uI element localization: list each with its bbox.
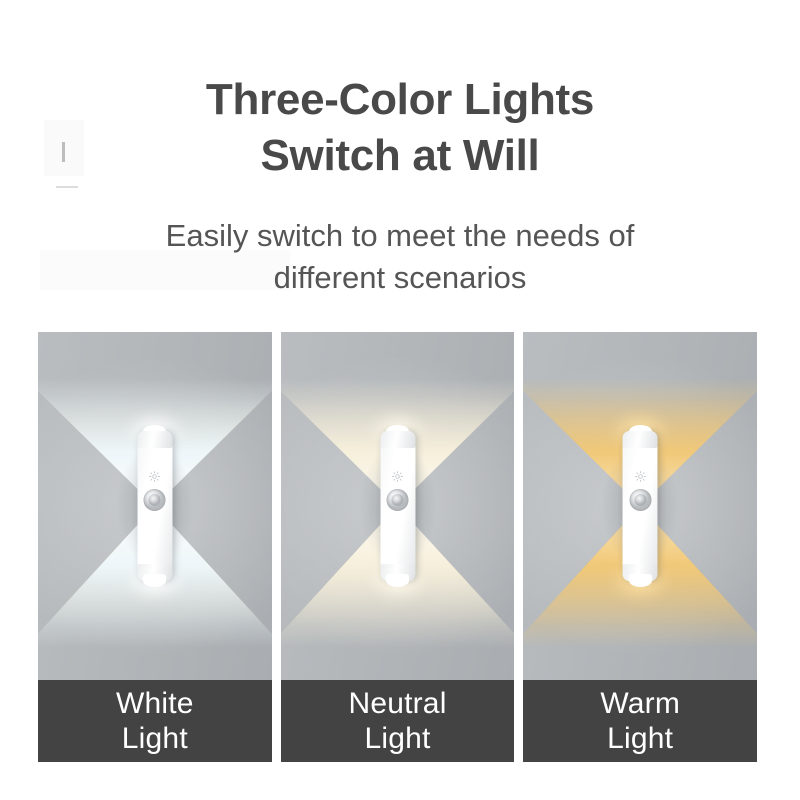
light-mode-label: Neutral Light	[281, 680, 515, 762]
sun-icon	[635, 471, 646, 482]
light-mode-label: Warm Light	[523, 680, 757, 762]
sensor-dome	[392, 494, 404, 506]
fixture-top-bevel	[380, 431, 415, 448]
fixture-bottom-bevel	[137, 564, 172, 581]
light-mode-card-white[interactable]: White Light	[38, 332, 272, 762]
product-photo-white	[38, 332, 272, 680]
fixture-bottom-bevel	[380, 564, 415, 581]
light-mode-gallery: White Light	[38, 332, 757, 762]
wall-lamp-fixture[interactable]	[380, 431, 415, 581]
page-title: Three-Color Lights Switch at Will	[0, 72, 800, 185]
scan-artifact-line	[56, 186, 78, 188]
page-subtitle: Easily switch to meet the needs of diffe…	[0, 215, 800, 300]
sensor-dome	[634, 494, 646, 506]
pir-motion-sensor-icon	[387, 489, 409, 511]
wall-lamp-fixture[interactable]	[623, 431, 658, 581]
sensor-dome	[149, 494, 161, 506]
pir-motion-sensor-icon	[629, 489, 651, 511]
sun-icon	[149, 471, 160, 482]
wall-lamp-fixture[interactable]	[137, 431, 172, 581]
fixture-bottom-bevel	[623, 564, 658, 581]
light-mode-label: White Light	[38, 680, 272, 762]
light-mode-card-warm[interactable]: Warm Light	[523, 332, 757, 762]
fixture-top-bevel	[137, 431, 172, 448]
sun-icon	[392, 471, 403, 482]
light-mode-card-neutral[interactable]: Neutral Light	[281, 332, 515, 762]
pir-motion-sensor-icon	[144, 489, 166, 511]
product-photo-warm	[523, 332, 757, 680]
fixture-top-bevel	[623, 431, 658, 448]
product-photo-neutral	[281, 332, 515, 680]
